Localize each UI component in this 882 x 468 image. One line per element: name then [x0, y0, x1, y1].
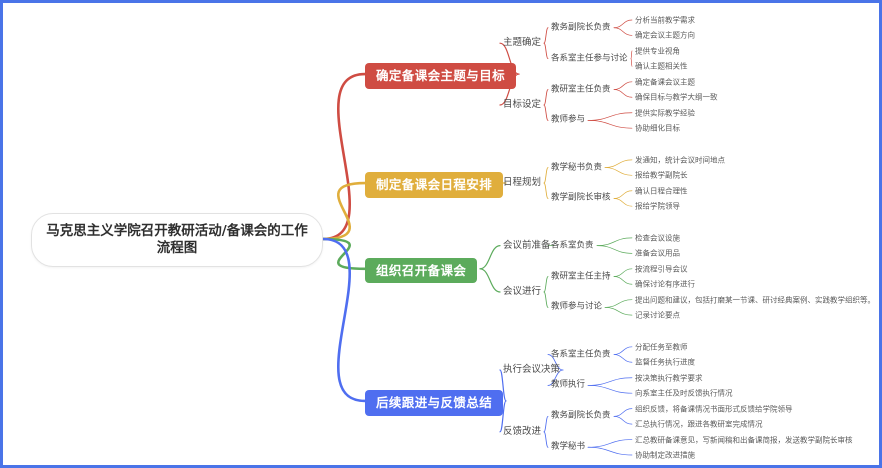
- role-node[interactable]: 教研室主任负责: [551, 84, 611, 95]
- connector: [614, 28, 632, 36]
- subtopic-node[interactable]: 日程规划: [503, 177, 541, 189]
- task-node[interactable]: 确保讨论有序进行: [635, 280, 695, 289]
- connector: [588, 120, 632, 128]
- task-node[interactable]: 监督任务执行进度: [635, 358, 695, 367]
- task-node[interactable]: 组织反馈，将备课情况书面形式反馈给学院领导: [635, 404, 793, 413]
- connector: [544, 43, 548, 58]
- connector: [614, 355, 632, 363]
- connector: [323, 74, 365, 239]
- connector: [544, 28, 548, 43]
- connector: [544, 292, 548, 307]
- subtopic-node[interactable]: 目标设定: [503, 99, 541, 111]
- task-node[interactable]: 检查会议设施: [635, 233, 680, 242]
- subtopic-node[interactable]: 执行会议决策: [503, 364, 560, 376]
- connector: [614, 20, 632, 28]
- connector: [588, 378, 632, 386]
- task-node[interactable]: 准备会议用品: [635, 249, 680, 258]
- task-node[interactable]: 按决策执行教学要求: [635, 373, 703, 382]
- branch-node[interactable]: 后续跟进与反馈总结: [365, 390, 503, 416]
- task-node[interactable]: 分析当前教学需求: [635, 15, 695, 24]
- role-node[interactable]: 教研室主任主持: [551, 271, 611, 282]
- connector: [605, 300, 632, 308]
- task-node[interactable]: 提供实际教学经验: [635, 108, 695, 117]
- connector: [544, 105, 548, 120]
- connector: [614, 191, 632, 199]
- role-node[interactable]: 教学副院长审核: [551, 193, 611, 204]
- connector: [544, 168, 548, 183]
- task-node[interactable]: 确定备课会议主题: [635, 77, 695, 86]
- task-node[interactable]: 协助制定改进措施: [635, 450, 695, 459]
- task-node[interactable]: 协助细化目标: [635, 123, 680, 132]
- branch-node[interactable]: 组织召开备课会: [365, 258, 477, 284]
- connector: [631, 59, 632, 67]
- task-node[interactable]: 确认主题相关性: [635, 62, 688, 71]
- connector: [614, 269, 632, 277]
- mindmap-canvas[interactable]: 马克思主义学院召开教研活动/备课会的工作流程图 确定备课会主题与目标主题确定教务…: [0, 0, 882, 468]
- task-node[interactable]: 确认日程合理性: [635, 186, 688, 195]
- role-node[interactable]: 教务副院长负责: [551, 411, 611, 422]
- task-node[interactable]: 确定会议主题方向: [635, 31, 695, 40]
- subtopic-node[interactable]: 反馈改进: [503, 426, 541, 438]
- role-node[interactable]: 教务副院长负责: [551, 22, 611, 33]
- connector: [544, 416, 548, 431]
- subtopic-node[interactable]: 主题确定: [503, 37, 541, 49]
- connector: [597, 238, 632, 246]
- connector: [631, 51, 632, 59]
- role-node[interactable]: 教师执行: [551, 380, 585, 391]
- task-node[interactable]: 提出问题和建议，包括打磨某一节课、研讨经典案例、实践教学组织等。: [635, 295, 875, 304]
- connector: [614, 277, 632, 285]
- connector: [480, 246, 500, 269]
- connector: [605, 307, 632, 315]
- connector: [323, 239, 365, 269]
- connector: [588, 113, 632, 121]
- role-node[interactable]: 各系室主任负责: [551, 349, 611, 360]
- connector: [614, 347, 632, 355]
- task-node[interactable]: 按流程引导会议: [635, 264, 688, 273]
- role-node[interactable]: 教学秘书负责: [551, 162, 602, 173]
- role-node[interactable]: 各系室负责: [551, 240, 594, 251]
- connector: [544, 277, 548, 292]
- root-node[interactable]: 马克思主义学院召开教研活动/备课会的工作流程图: [31, 213, 323, 267]
- connector: [544, 432, 548, 447]
- task-node[interactable]: 分配任务至教师: [635, 342, 688, 351]
- connector: [605, 168, 632, 176]
- task-node[interactable]: 提供专业视角: [635, 46, 680, 55]
- connector: [614, 409, 632, 417]
- connector: [544, 183, 548, 198]
- connector: [588, 385, 632, 393]
- task-node[interactable]: 向系室主任及时反馈执行情况: [635, 389, 733, 398]
- connector: [588, 440, 632, 448]
- role-node[interactable]: 教师参与讨论: [551, 302, 602, 313]
- subtopic-node[interactable]: 会议进行: [503, 286, 541, 298]
- connector: [544, 90, 548, 105]
- connector: [588, 447, 632, 455]
- task-node[interactable]: 报给教学副院长: [635, 171, 688, 180]
- connector: [323, 239, 365, 401]
- subtopic-node[interactable]: 会议前准备: [503, 240, 551, 252]
- role-node[interactable]: 教师参与: [551, 115, 585, 126]
- connector: [614, 416, 632, 424]
- role-node[interactable]: 教学秘书: [551, 442, 585, 453]
- connector: [614, 82, 632, 90]
- task-node[interactable]: 汇总教研备课意见，写新闻稿和出备课简报，发送教学副院长审核: [635, 435, 853, 444]
- connector: [480, 269, 500, 292]
- connector: [614, 90, 632, 98]
- branch-node[interactable]: 确定备课会主题与目标: [365, 63, 516, 89]
- connector: [605, 160, 632, 168]
- connector: [597, 246, 632, 254]
- task-node[interactable]: 发通知，统计会议时间地点: [635, 155, 725, 164]
- role-node[interactable]: 各系室主任参与讨论: [551, 53, 628, 64]
- task-node[interactable]: 记录讨论要点: [635, 310, 680, 319]
- task-node[interactable]: 汇总执行情况，跟进各教研室完成情况: [635, 419, 763, 428]
- task-node[interactable]: 确保目标与教学大纲一致: [635, 93, 718, 102]
- branch-node[interactable]: 制定备课会日程安排: [365, 172, 503, 198]
- task-node[interactable]: 报给学院领导: [635, 202, 680, 211]
- connector: [323, 183, 365, 239]
- connector: [614, 198, 632, 206]
